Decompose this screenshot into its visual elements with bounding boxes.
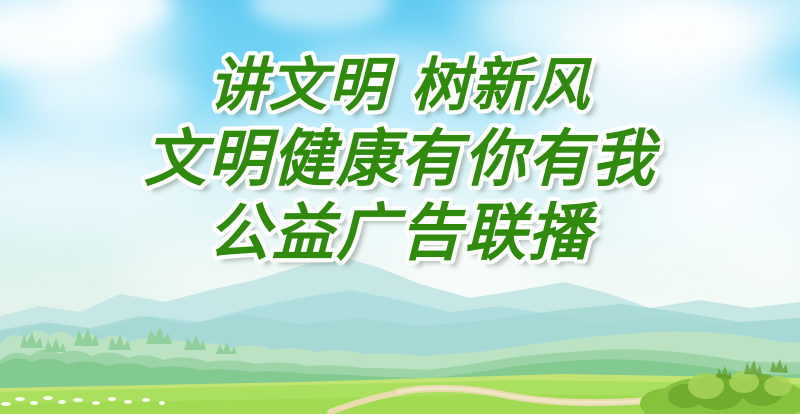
public-service-ad-banner: 讲文明 树新风 文明健康有你有我 公益广告联播	[0, 0, 800, 414]
white-flowers-left	[0, 390, 800, 414]
